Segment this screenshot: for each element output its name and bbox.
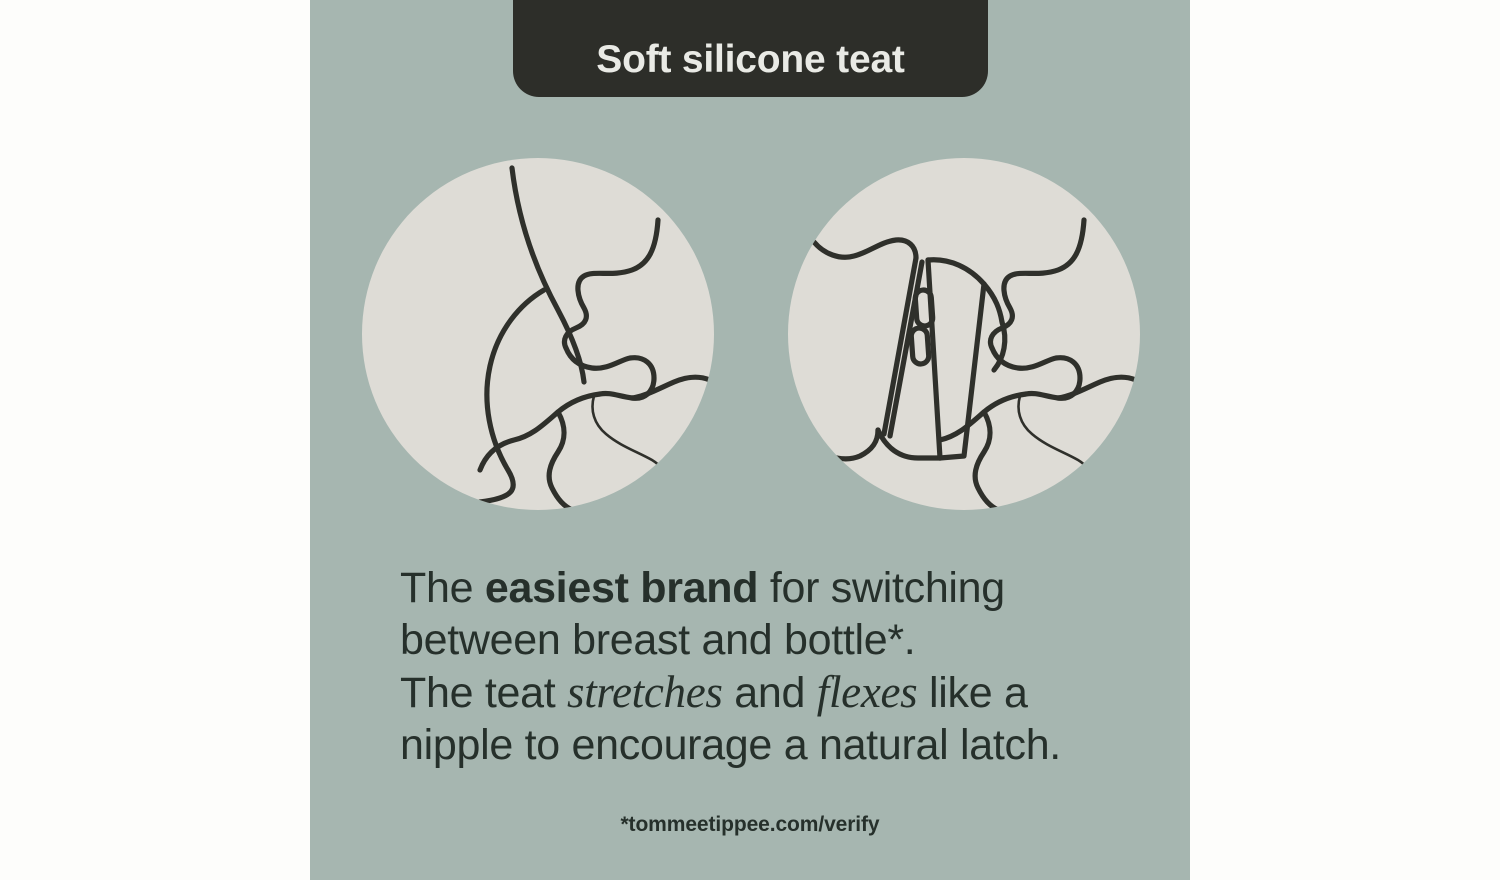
body-copy-line-4: nipple to encourage a natural latch.	[400, 719, 1140, 771]
title-text: Soft silicone teat	[596, 40, 904, 79]
bottle-teat-line-art	[788, 158, 1140, 510]
body-text-segment: like a	[917, 669, 1027, 717]
footnote-url: *tommeetippee.com/verify	[310, 813, 1190, 837]
body-copy-line-1: The easiest brand for switching	[400, 562, 1140, 614]
body-text-segment: The teat	[400, 669, 567, 717]
body-text-italic-stretches: stretches	[567, 667, 723, 717]
illustration-circle-bottle-teat	[788, 158, 1140, 510]
body-text-italic-flexes: flexes	[817, 667, 918, 717]
body-text-segment: between breast and bottle*.	[400, 616, 915, 664]
body-text-bold-easiest-brand: easiest brand	[485, 564, 758, 612]
title-pill-banner: Soft silicone teat	[513, 0, 988, 97]
body-text-segment: nipple to encourage a natural latch.	[400, 721, 1061, 769]
body-copy: The easiest brand for switching between …	[400, 562, 1140, 771]
body-text-segment: for switching	[758, 564, 1005, 612]
sage-content-panel: Soft silicone teat	[310, 0, 1190, 880]
body-copy-line-2: between breast and bottle*.	[400, 614, 1140, 666]
illustration-circle-breastfeeding	[362, 158, 714, 510]
advertisement-canvas: Soft silicone teat	[0, 0, 1500, 880]
body-copy-line-3: The teat stretches and flexes like a	[400, 666, 1140, 719]
body-text-segment: The	[400, 564, 485, 612]
breastfeeding-line-art	[362, 158, 714, 510]
body-text-segment: and	[723, 669, 817, 717]
